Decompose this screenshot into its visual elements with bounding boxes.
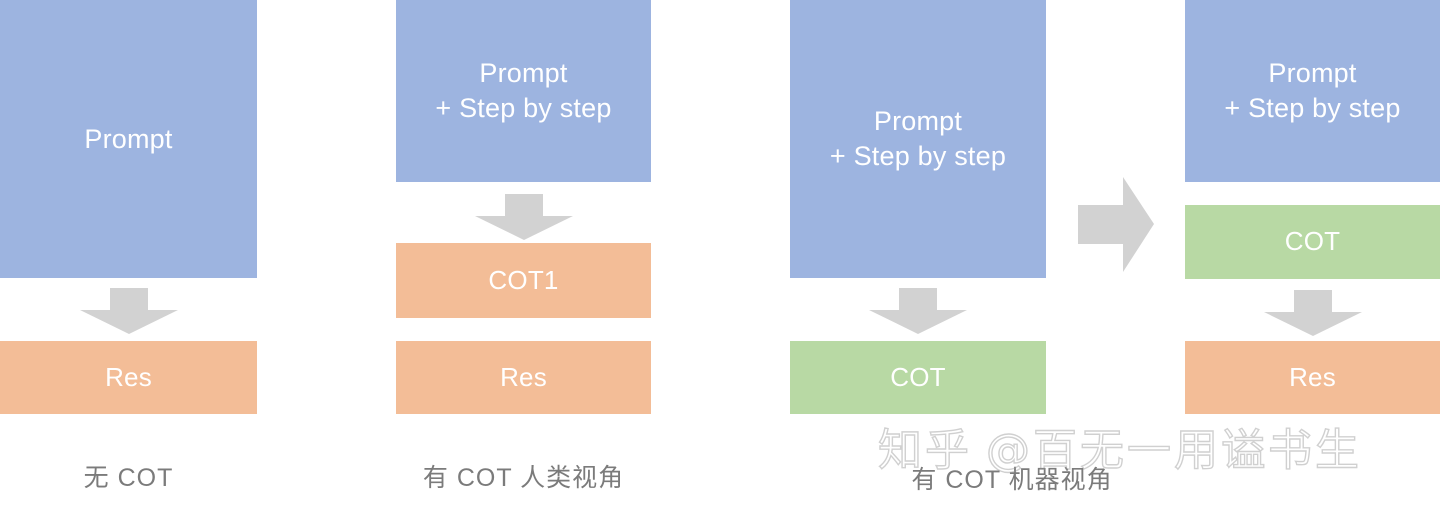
node-c4-cot[interactable]: COT	[1185, 205, 1440, 279]
node-c4-prompt-step[interactable]: Prompt + Step by step	[1185, 0, 1440, 182]
node-label: Res	[1289, 361, 1336, 394]
node-label: Prompt + Step by step	[1224, 56, 1400, 125]
node-label: Prompt + Step by step	[435, 56, 611, 125]
node-label: Res	[105, 361, 152, 394]
caption-no-cot: 无 COT	[0, 458, 257, 494]
node-label: COT	[890, 361, 945, 394]
node-c3-cot[interactable]: COT	[790, 341, 1046, 414]
diagram-canvas: Prompt Res 无 COT Prompt + Step by step C…	[0, 0, 1440, 514]
arrow-right-icon-transform	[1078, 177, 1154, 272]
node-c2-res[interactable]: Res	[396, 341, 651, 414]
arrow-down-icon-c3	[869, 288, 967, 334]
arrow-down-icon-c1	[80, 288, 178, 334]
arrow-down-icon-c4	[1264, 290, 1362, 336]
caption-cot-human-view: 有 COT 人类视角	[396, 458, 651, 494]
node-c3-prompt-step[interactable]: Prompt + Step by step	[790, 0, 1046, 278]
node-c2-cot1[interactable]: COT1	[396, 243, 651, 318]
arrow-down-icon-c2	[475, 194, 573, 240]
caption-cot-machine-view: 有 COT 机器视角	[862, 460, 1162, 496]
node-label: Prompt	[84, 122, 172, 157]
node-c4-res[interactable]: Res	[1185, 341, 1440, 414]
node-label: COT1	[488, 264, 558, 297]
node-c1-res[interactable]: Res	[0, 341, 257, 414]
node-label: COT	[1285, 225, 1340, 258]
node-label: Res	[500, 361, 547, 394]
node-label: Prompt + Step by step	[830, 104, 1006, 173]
node-c1-prompt[interactable]: Prompt	[0, 0, 257, 278]
node-c2-prompt-step[interactable]: Prompt + Step by step	[396, 0, 651, 182]
